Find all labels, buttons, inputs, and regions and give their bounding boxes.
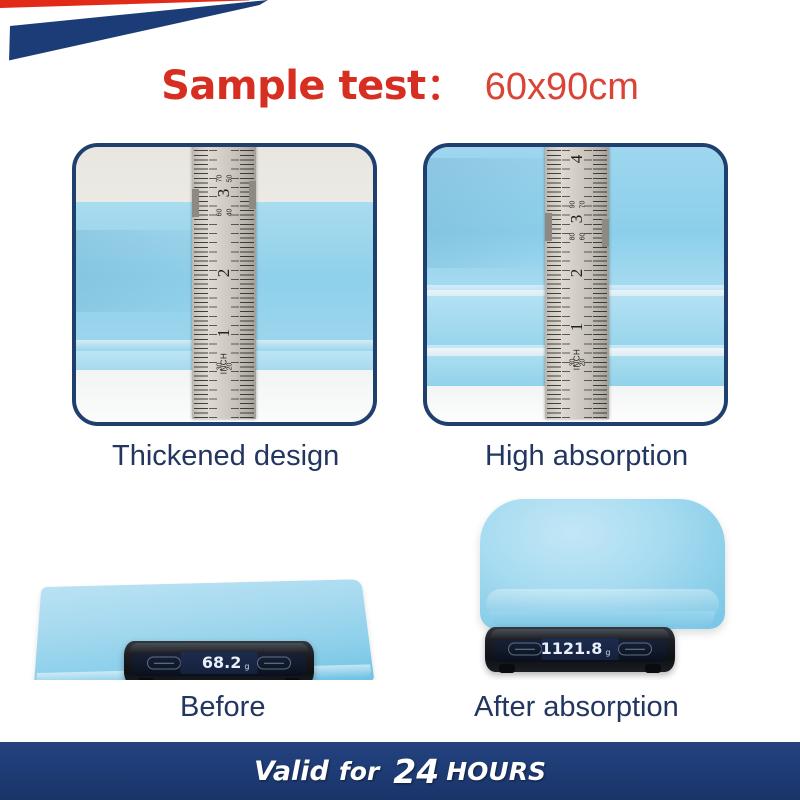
scale-platform-edge-2 (491, 629, 670, 638)
tare-button-glyph-2 (515, 648, 535, 650)
ruler-ticks-right-2 (593, 147, 607, 419)
ruler-inch-mark-1: 1 (214, 329, 234, 338)
ruler-ticks-right-coarse (231, 147, 239, 419)
ruler-metric-mark-b2: 80 (569, 233, 576, 241)
photo-weigh-before: 68.2 g (0, 495, 400, 680)
banner-for-label: for (329, 757, 379, 786)
ruler-ticks-left (194, 147, 208, 419)
ruler-inch-mark-1-2: 1 (567, 323, 587, 332)
page-title: Sample test：60x90cm (0, 58, 800, 110)
digital-scale-after: 1121.8 g (485, 627, 675, 672)
ruler-metric-mark-c2: 70 (580, 201, 587, 209)
ruler-ticks-left-2 (547, 147, 561, 419)
banner-hours-number: 24 (379, 752, 439, 791)
photo-panel-thickened-design: 3 2 1 INCH 70 60 50 40 30 20 (72, 143, 377, 426)
ruler-inch-mark-4-2: 4 (567, 155, 587, 164)
caption-after-absorption: After absorption (474, 691, 679, 724)
steel-ruler-2: 4 3 2 1 INCH 90 80 70 60 30 20 (545, 147, 609, 419)
banner-hours-label: HOURS (439, 757, 546, 786)
title-size-value: 60x90cm (463, 66, 639, 108)
scale-lcd-display: 68.2 g (181, 652, 258, 674)
scale-unit-button[interactable] (257, 657, 291, 670)
scale-weight-value-2: 1121.8 (541, 641, 603, 657)
pad-swollen-saturated (480, 499, 725, 629)
ruler-metric-mark-e: 30 (216, 363, 223, 371)
ruler-inch-mark-3-2: 3 (567, 215, 587, 224)
ruler-clip-right-2 (602, 219, 609, 247)
scale-weight-value: 68.2 (202, 655, 241, 671)
scale-tare-button-2[interactable] (508, 643, 542, 656)
steel-ruler: 3 2 1 INCH 70 60 50 40 30 20 (192, 147, 256, 419)
ruler-clip-right (249, 181, 256, 209)
digital-scale-before: 68.2 g (124, 641, 314, 680)
title-colon: ： (426, 67, 463, 108)
ruler-clip-left (192, 189, 199, 217)
ruler-markings: 3 2 1 INCH 70 60 50 40 30 20 (192, 147, 256, 419)
banner-valid-label: Valid (254, 756, 329, 787)
scale-front-face: 68.2 g (132, 654, 307, 676)
scale-weight-unit-2: g (605, 648, 610, 657)
photo-ruler-on-swollen-pad: 4 3 2 1 INCH 90 80 70 60 30 20 (427, 147, 724, 422)
ruler-metric-mark-f: 20 (227, 363, 234, 371)
ruler-inch-mark-3: 3 (214, 189, 234, 198)
ruler-ticks-left-coarse (209, 147, 217, 419)
ruler-metric-mark-a2: 90 (569, 201, 576, 209)
ruler-metric-mark-e2: 30 (569, 359, 576, 367)
photo-weigh-after: 1121.8 g (420, 495, 800, 680)
caption-high-absorption: High absorption (485, 440, 688, 473)
title-main-text: Sample test (161, 63, 426, 109)
scale-foot-right-2 (645, 664, 661, 673)
scale-tare-button[interactable] (147, 657, 181, 670)
scale-foot-right (284, 678, 300, 680)
unit-button-glyph-2 (625, 648, 645, 650)
ruler-markings-2: 4 3 2 1 INCH 90 80 70 60 30 20 (545, 147, 609, 419)
scale-front-face-2: 1121.8 g (493, 640, 668, 662)
tare-button-glyph (154, 662, 174, 664)
scale-foot-left (138, 678, 154, 680)
ruler-inch-mark-2: 2 (214, 269, 234, 278)
ruler-ticks-right-coarse-2 (584, 147, 592, 419)
bottom-banner: Valid for 24 HOURS (0, 742, 800, 800)
ruler-inch-mark-2-2: 2 (567, 269, 587, 278)
ruler-metric-mark-f2: 20 (580, 359, 587, 367)
photo-ruler-on-flat-pad: 3 2 1 INCH 70 60 50 40 30 20 (76, 147, 373, 422)
ruler-clip-left-2 (545, 213, 552, 241)
scale-lcd-display-2: 1121.8 g (542, 638, 619, 660)
caption-before: Before (180, 691, 265, 724)
scale-foot-left-2 (499, 664, 515, 673)
ruler-ticks-left-coarse-2 (562, 147, 570, 419)
ruler-metric-mark-d: 40 (227, 209, 234, 217)
ruler-metric-mark-b: 60 (216, 209, 223, 217)
caption-thickened-design: Thickened design (112, 440, 339, 473)
scale-unit-button-2[interactable] (618, 643, 652, 656)
ruler-metric-mark-c: 50 (227, 175, 234, 183)
unit-button-glyph (264, 662, 284, 664)
photo-panel-high-absorption: 4 3 2 1 INCH 90 80 70 60 30 20 (423, 143, 728, 426)
product-infographic: Sample test：60x90cm 3 2 (0, 0, 800, 800)
ruler-metric-mark-a: 70 (216, 175, 223, 183)
scale-weight-unit: g (244, 662, 249, 671)
ruler-metric-mark-d2: 60 (580, 233, 587, 241)
scale-platform-edge (130, 643, 309, 652)
